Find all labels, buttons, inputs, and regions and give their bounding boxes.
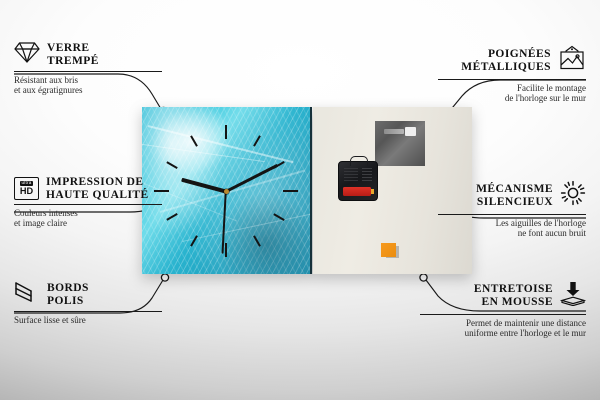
feature-verre-trempe: VERRE TREMPÉ Résistant aux bris et aux é… [14,42,162,96]
hanger-slot [384,129,404,134]
feature-title-line1: VERRE [47,42,99,55]
feature-title-line2: EN MOUSSE [474,296,553,309]
hanger-plate-highlight [405,127,416,136]
feature-sub-line2: de l'horloge sur le mur [438,93,586,104]
product-image [142,107,472,274]
feature-bords-polis: BORDS POLIS Surface lisse et sûre [14,281,162,325]
feature-sub-line1: Permet de maintenir une distance [420,318,586,329]
mechanism-grill-left [344,168,358,181]
clock-dial [142,107,310,274]
feature-sub-line2: et aux égratignures [14,85,162,96]
feature-sub-line2: uniforme entre l'horloge et le mur [420,328,586,339]
marker-bords-polis [161,274,168,281]
feature-poignees-metalliques: POIGNÉES MÉTALLIQUES Facilite le montage… [438,45,586,104]
feature-title-line1: IMPRESSION DE [46,176,149,189]
picture-hanger-icon [558,45,586,76]
feature-divider [14,71,162,72]
mechanism-hook [350,156,368,166]
infographic-canvas: VERRE TREMPÉ Résistant aux bris et aux é… [0,0,600,400]
feature-sub-line1: Résistant aux bris [14,75,162,86]
feature-mecanisme-silencieux: MÉCANISME SILENCIEUX Les aig [438,180,586,239]
clock-minute-hand [225,164,278,193]
polished-edges-icon [14,281,40,308]
feature-title-line1: MÉCANISME [476,183,553,196]
feature-divider [14,311,162,312]
clock-front-panel [142,107,312,274]
clock-hour-hand [181,178,226,193]
feature-divider [438,214,586,215]
metal-hanger-part [375,121,425,166]
feature-sub-line2: et image claire [14,218,162,229]
feature-sub-line1: Surface lisse et sûre [14,315,162,326]
feature-divider [14,204,162,205]
feature-title-line2: TREMPÉ [47,55,99,68]
clock-center-pin [224,189,229,194]
feature-title-line2: MÉTALLIQUES [461,61,551,74]
feature-title-line1: ENTRETOISE [474,283,553,296]
foam-spacer-icon [560,281,586,311]
feature-sub-line2: ne font aucun bruit [438,228,586,239]
feature-divider [438,79,586,80]
diamond-icon [14,42,40,68]
clock-mechanism-part [338,161,378,201]
feature-title-line1: POIGNÉES [461,48,551,61]
ultra-hd-icon-main: HD [20,187,33,196]
feature-impression-haute-qualite: ultra HD IMPRESSION DE HAUTE QUALITÉ Cou… [14,176,162,229]
feature-divider [420,314,586,315]
foam-spacer-part [381,243,396,257]
feature-sub-line1: Facilite le montage [438,83,586,94]
feature-title-line1: BORDS [47,282,89,295]
mechanism-battery [343,187,371,196]
gear-icon [560,180,586,211]
feature-entretoise-en-mousse: ENTRETOISE EN MOUSSE Permet de maintenir… [420,281,586,339]
feature-sub-line1: Les aiguilles de l'horloge [438,218,586,229]
ultra-hd-icon: ultra HD [14,177,39,200]
feature-title-line2: POLIS [47,295,89,308]
feature-title-line2: HAUTE QUALITÉ [46,189,149,202]
mechanism-grill-right [362,168,372,181]
feature-title-line2: SILENCIEUX [476,196,553,209]
feature-sub-line1: Couleurs intenses [14,208,162,219]
